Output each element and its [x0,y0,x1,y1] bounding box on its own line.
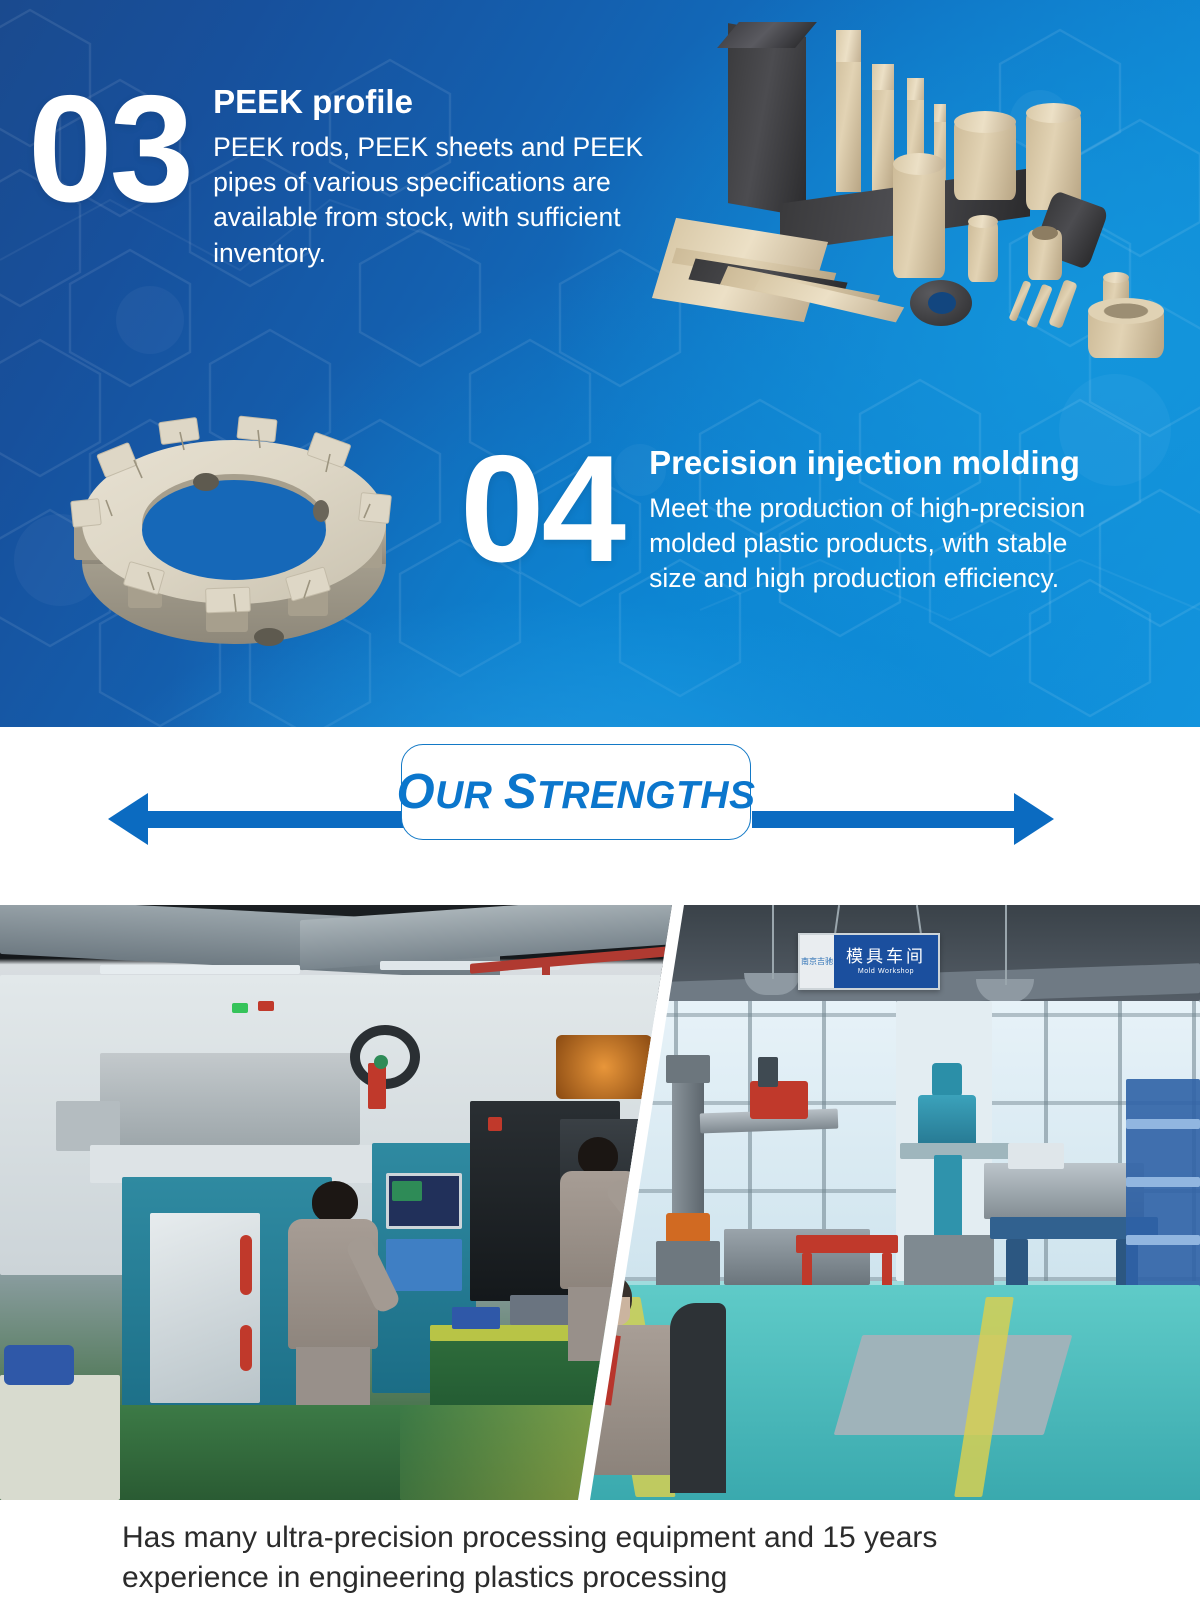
feature-title-04: Precision injection molding [649,444,1119,482]
our-strengths-label: OUR STRENGTHS [397,764,756,820]
feature-number-03: 03 [28,78,191,221]
worker-operator [286,1181,378,1431]
left-arrow-icon [108,793,148,845]
feature-description-04: Meet the production of high-precision mo… [649,491,1119,597]
workshop-photo-strip: 南京吉驰 模具车间 Mold Workshop [0,905,1200,1500]
cnc-machining-workshop-photo [0,905,672,1500]
right-arrow-bar [752,811,1014,828]
feature-number-04: 04 [460,438,623,581]
peek-profile-products-photo [668,8,1200,370]
left-arrow-bar [146,811,405,828]
peek-gear-ring-photo [38,404,428,676]
our-strengths-label-box: OUR STRENGTHS [401,744,751,840]
our-strengths-rest-1: UR [435,774,504,817]
sign-english-text: Mold Workshop [858,968,914,975]
right-arrow-icon [1014,793,1054,845]
our-strengths-cap-o: O [397,765,436,819]
sign-chinese-text: 模具车间 [846,948,926,965]
sign-company-logo: 南京吉驰 [800,935,834,988]
our-strengths-cap-s: S [504,765,537,819]
our-strengths-rest-2: TRENGTHS [537,774,756,817]
feature-title-03: PEEK profile [213,83,645,121]
feature-item-04: 04 Precision injection molding Meet the … [460,438,1119,597]
mold-workshop-sign: 南京吉驰 模具车间 Mold Workshop [798,933,940,990]
feature-description-03: PEEK rods, PEEK sheets and PEEK pipes of… [213,130,645,271]
hero-blue-panel: 03 PEEK profile PEEK rods, PEEK sheets a… [0,0,1200,727]
feature-item-03: 03 PEEK profile PEEK rods, PEEK sheets a… [28,78,645,271]
page-caption: Has many ultra-precision processing equi… [0,1500,1200,1616]
peek-capabilities-page: 03 PEEK profile PEEK rods, PEEK sheets a… [0,0,1200,1616]
